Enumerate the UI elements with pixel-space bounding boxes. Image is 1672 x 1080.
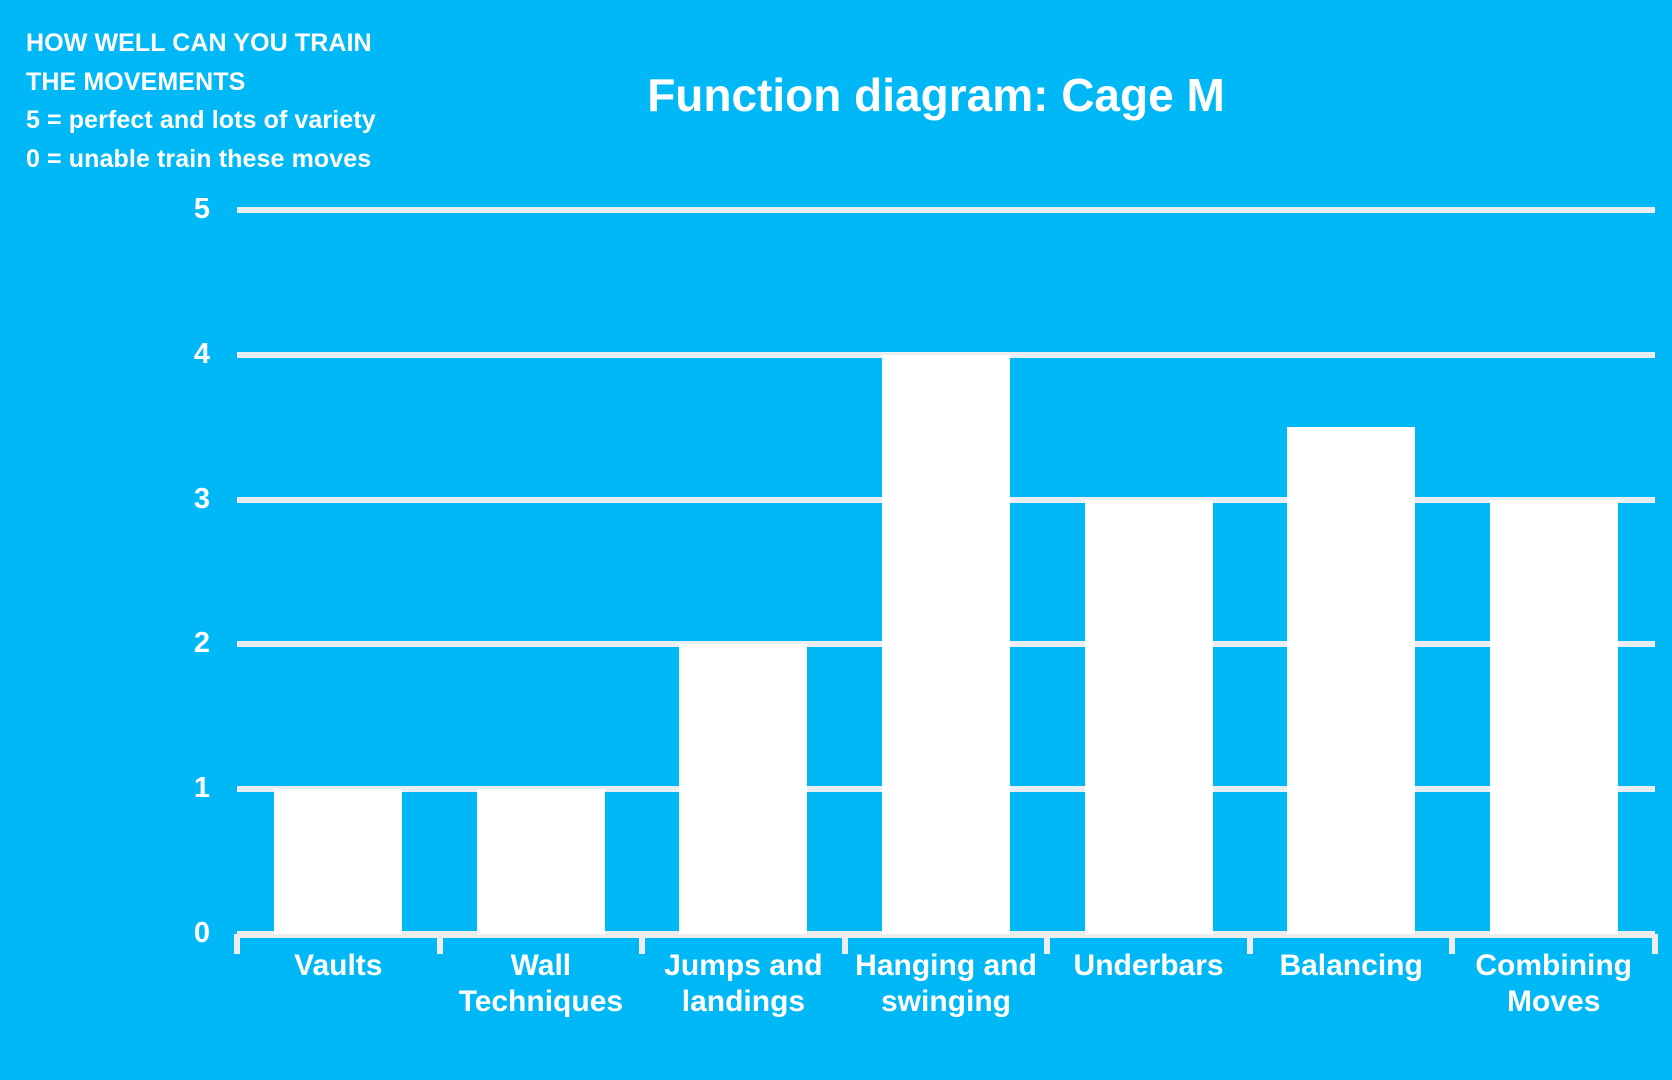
y-axis-label-0: 0 (160, 919, 210, 948)
y-axis-label-5: 5 (160, 195, 210, 224)
bar-wall-techniques[interactable] (477, 789, 605, 934)
x-axis-category-labels: VaultsWall TechniquesJumps and landingsH… (237, 948, 1655, 1058)
bar-jumps-and-landings[interactable] (679, 644, 807, 934)
x-label-combining-moves: Combining Moves (1442, 948, 1665, 1020)
x-label-balancing: Balancing (1240, 948, 1463, 984)
bar-hanging-and-swinging[interactable] (882, 355, 1010, 934)
bar-combining-moves[interactable] (1490, 500, 1618, 934)
x-label-jumps-and-landings: Jumps and landings (632, 948, 855, 1020)
slide-canvas: HOW WELL CAN YOU TRAIN THE MOVEMENTS 5 =… (0, 0, 1672, 1080)
x-label-wall-techniques: Wall Techniques (430, 948, 653, 1020)
bar-balancing[interactable] (1287, 427, 1415, 934)
y-axis-label-2: 2 (160, 629, 210, 658)
x-label-hanging-and-swinging: Hanging and swinging (835, 948, 1058, 1020)
plot-wrapper: 012345 VaultsWall TechniquesJumps and la… (0, 0, 1672, 1080)
y-axis-label-4: 4 (160, 340, 210, 369)
x-label-vaults: Vaults (227, 948, 450, 984)
bar-underbars[interactable] (1085, 500, 1213, 934)
bar-vaults[interactable] (274, 789, 402, 934)
bar-layer (237, 210, 1655, 934)
y-axis-label-1: 1 (160, 774, 210, 803)
x-label-underbars: Underbars (1037, 948, 1260, 984)
y-axis-label-3: 3 (160, 485, 210, 514)
